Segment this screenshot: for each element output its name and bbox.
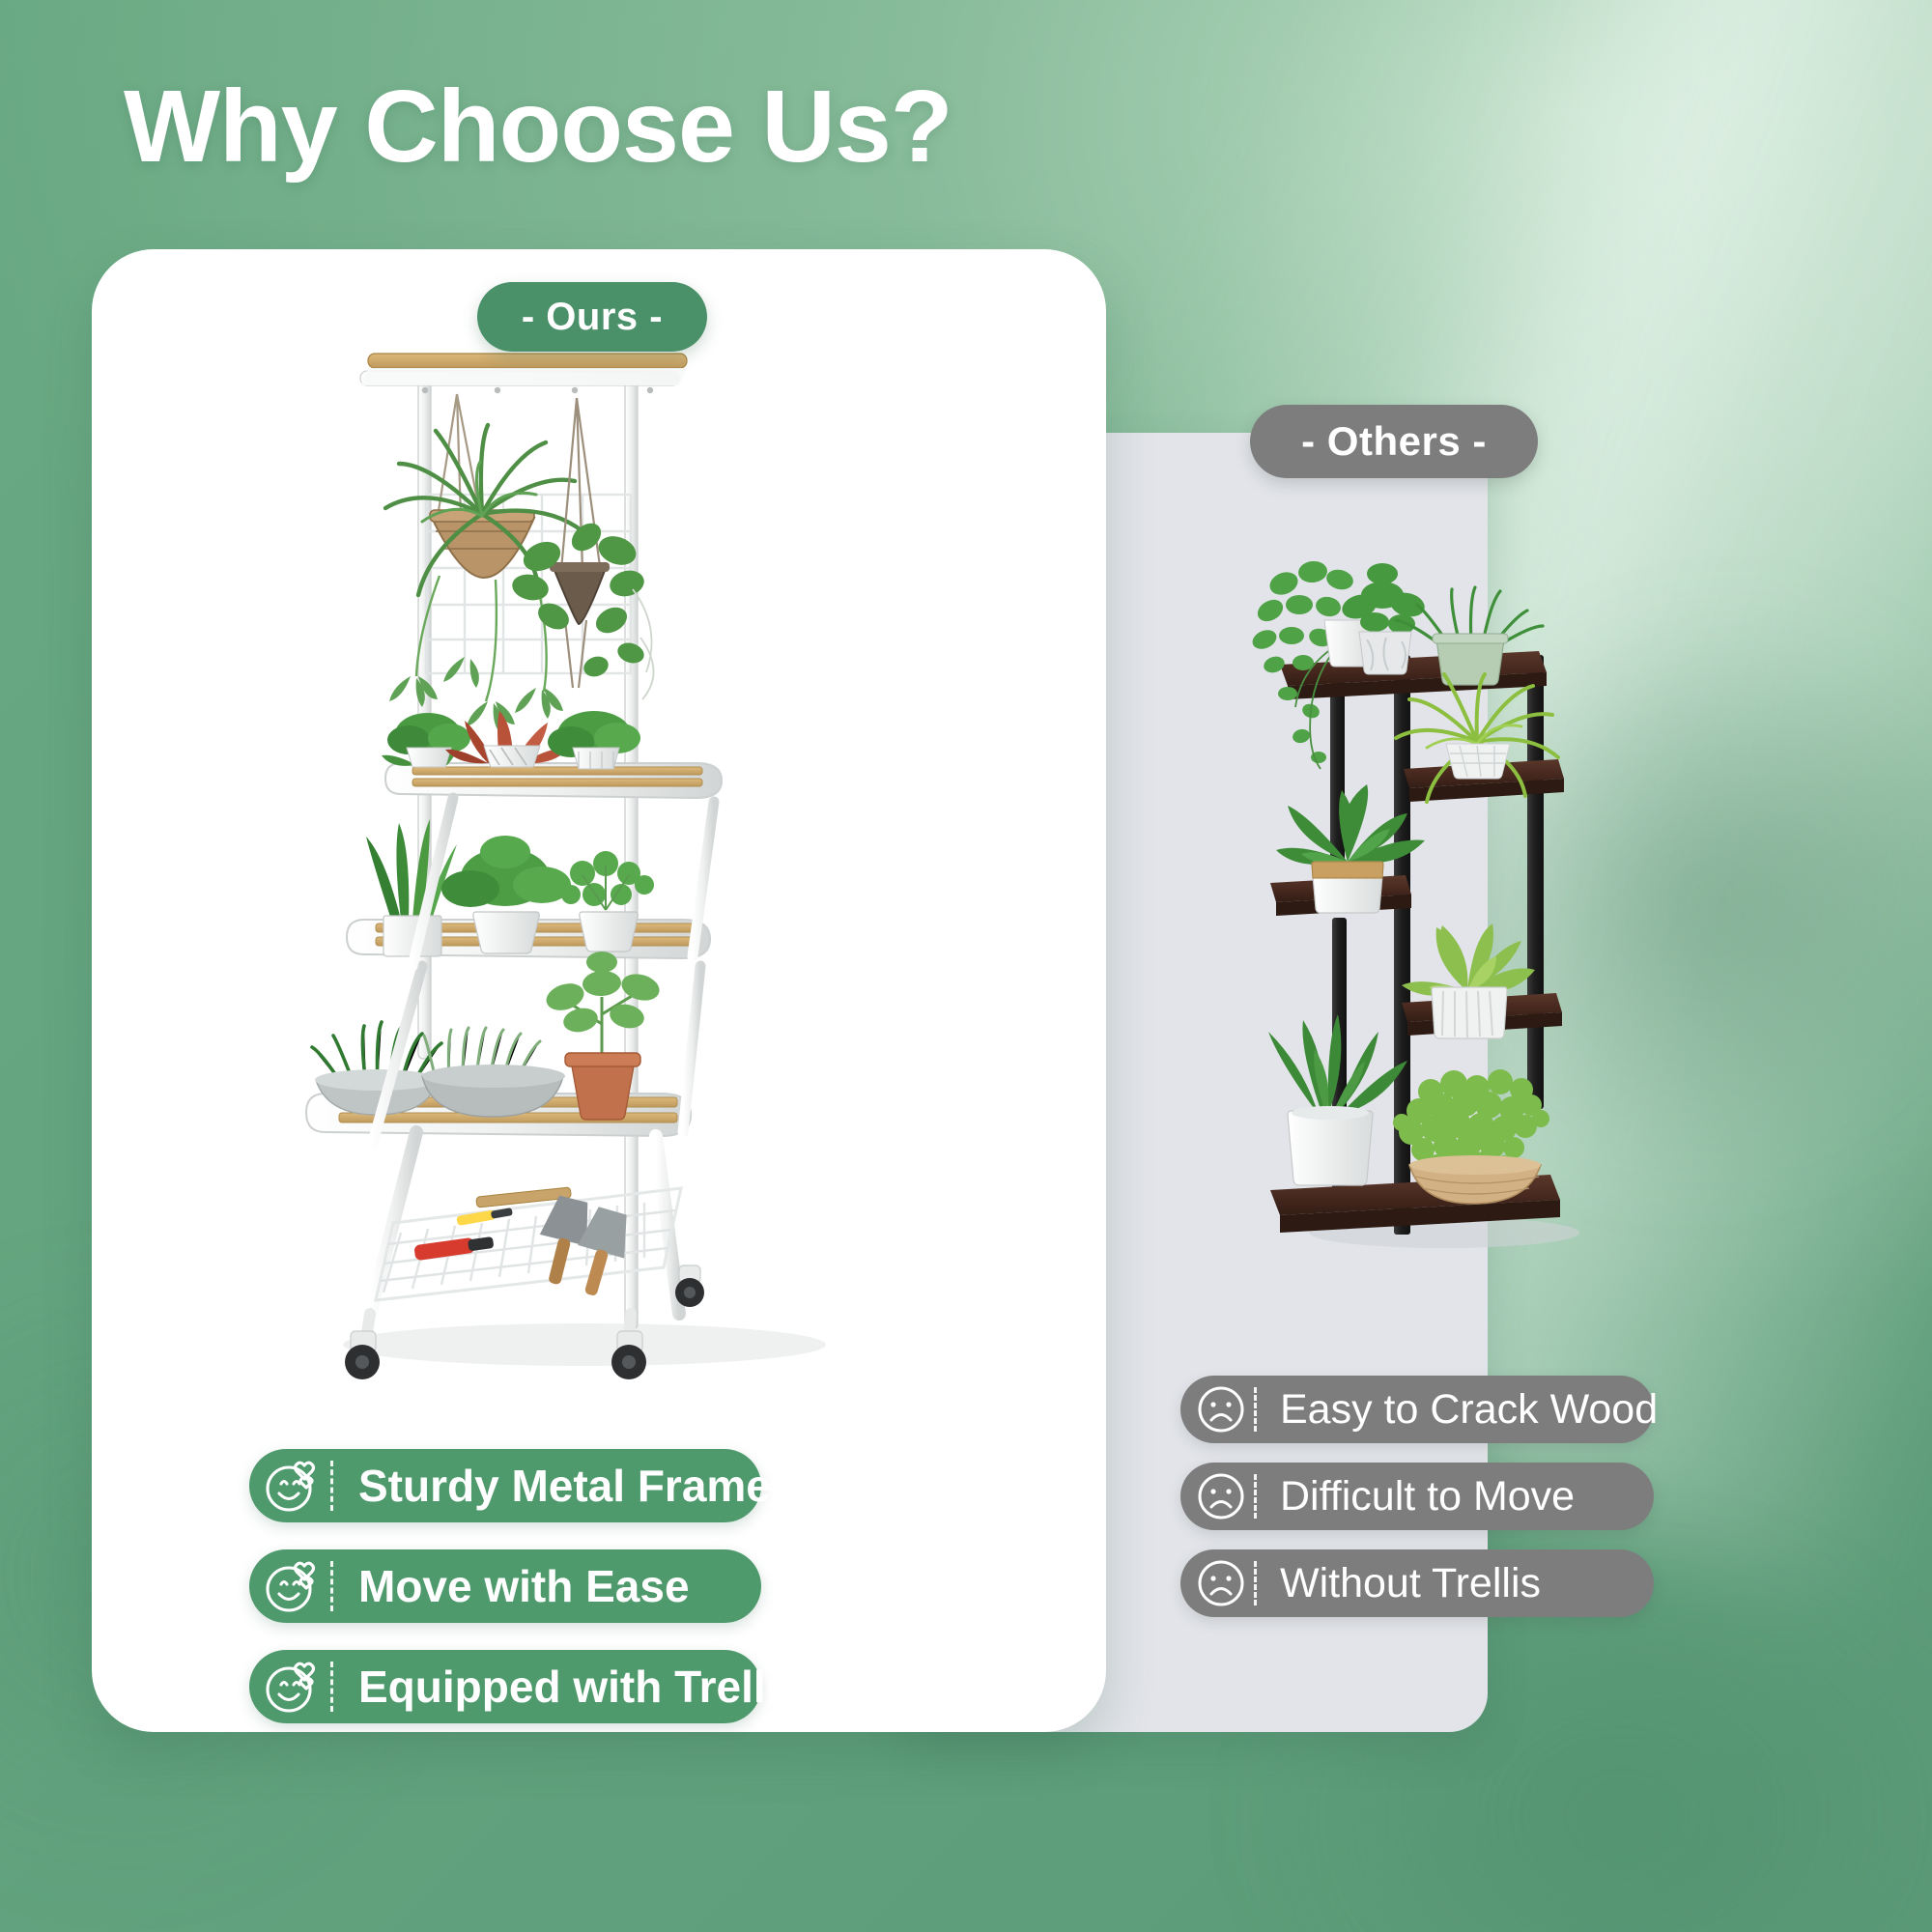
others-drawback-label: Difficult to Move <box>1280 1473 1654 1520</box>
ours-product-image <box>246 348 923 1391</box>
ours-feature-badge: Sturdy Metal Frame <box>249 1449 761 1522</box>
ours-section-pill: - Ours - <box>477 282 707 352</box>
smiley-heart-icon <box>249 1659 327 1715</box>
badge-divider <box>1254 1474 1257 1519</box>
smiley-heart-icon <box>249 1458 327 1514</box>
page-title: Why Choose Us? <box>124 71 952 182</box>
ours-feature-badge: Equipped with Trellis <box>249 1650 761 1723</box>
others-drawback-badge: Easy to Crack Wood <box>1180 1376 1654 1443</box>
others-product-image <box>1232 551 1657 1275</box>
badge-divider <box>1254 1387 1257 1432</box>
sad-face-icon <box>1180 1469 1252 1523</box>
ours-feature-label: Equipped with Trellis <box>358 1661 803 1713</box>
ours-feature-label: Move with Ease <box>358 1560 761 1612</box>
badge-divider <box>330 1461 333 1511</box>
smiley-heart-icon <box>249 1558 327 1614</box>
badge-divider <box>1254 1561 1257 1605</box>
ours-feature-label: Sturdy Metal Frame <box>358 1460 771 1512</box>
sad-face-icon <box>1180 1382 1252 1436</box>
others-section-pill: - Others - <box>1250 405 1538 478</box>
badge-divider <box>330 1662 333 1712</box>
others-drawback-badge: Difficult to Move <box>1180 1463 1654 1530</box>
badge-divider <box>330 1561 333 1611</box>
others-drawback-label: Easy to Crack Wood <box>1280 1386 1658 1434</box>
ours-feature-badge: Move with Ease <box>249 1549 761 1623</box>
others-drawback-label: Without Trellis <box>1280 1560 1654 1607</box>
others-drawback-badge: Without Trellis <box>1180 1549 1654 1617</box>
sad-face-icon <box>1180 1556 1252 1610</box>
